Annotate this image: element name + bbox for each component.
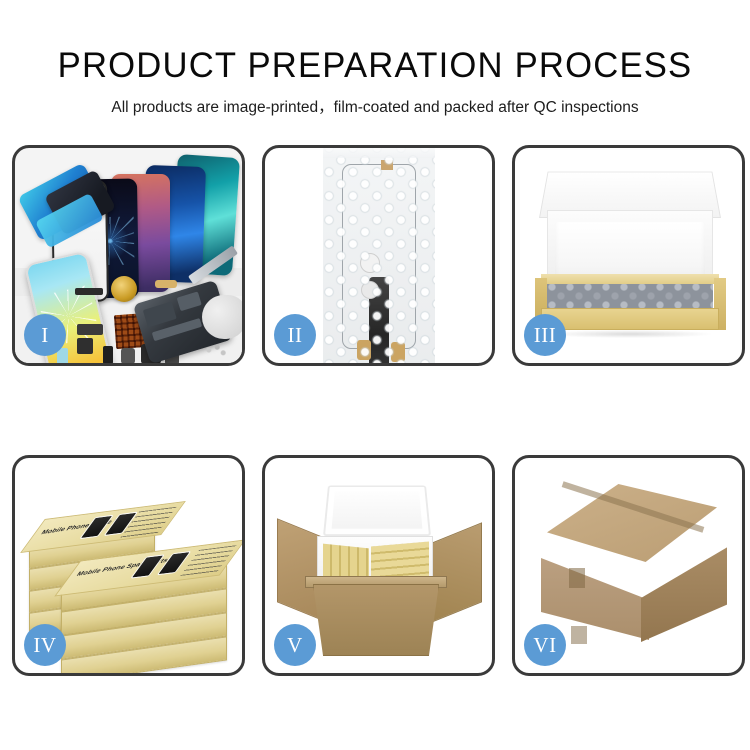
flex-part-d xyxy=(77,324,103,335)
gloved-hand-icon xyxy=(202,295,242,339)
step-card-6[interactable]: VI xyxy=(512,455,745,676)
step-card-1[interactable]: I xyxy=(12,145,245,366)
carton-body xyxy=(313,584,439,656)
speaker-coil-part-icon xyxy=(111,276,137,302)
bubble-texture xyxy=(323,148,435,363)
step-badge-6: VI xyxy=(524,624,566,666)
step-badge-1: I xyxy=(24,314,66,356)
carton-tape-lower xyxy=(571,626,587,644)
step-badge-2: II xyxy=(274,314,316,356)
page-header: PRODUCT PREPARATION PROCESS All products… xyxy=(0,0,750,116)
foam-box-lid xyxy=(323,486,431,536)
carton-tape-upper xyxy=(569,568,585,588)
flex-part-b xyxy=(155,280,177,288)
flex-part-h xyxy=(121,348,135,363)
product-preparation-process-page: PRODUCT PREPARATION PROCESS All products… xyxy=(0,0,750,750)
page-title: PRODUCT PREPARATION PROCESS xyxy=(4,48,747,83)
bubble-wrap-bag-icon xyxy=(323,148,435,363)
step-card-2[interactable]: II xyxy=(262,145,495,366)
flex-part-a xyxy=(75,288,103,295)
label-checklist-front xyxy=(180,545,237,577)
flex-part-e xyxy=(77,338,93,354)
step-card-5[interactable]: V xyxy=(262,455,495,676)
box-drop-shadow xyxy=(549,330,711,338)
grey-bubble-wrap-layer xyxy=(547,282,713,310)
bag-top-fold xyxy=(323,148,435,158)
flex-part-g xyxy=(103,346,113,363)
step-card-4[interactable]: Mobile Phone Spare Parts Mobile Phone Sp… xyxy=(12,455,245,676)
process-steps-grid: I II xyxy=(12,145,745,690)
chassis-detail-1 xyxy=(143,301,177,327)
chassis-detail-2 xyxy=(177,291,202,311)
step-badge-5: V xyxy=(274,624,316,666)
box-front-wall xyxy=(541,308,719,330)
box-inner-lip xyxy=(541,274,719,284)
page-subtitle: All products are image-printed，film-coat… xyxy=(0,100,750,116)
step-badge-4: IV xyxy=(24,624,66,666)
step-badge-3: III xyxy=(524,314,566,356)
screws-icon xyxy=(204,343,228,357)
step-card-3[interactable]: III xyxy=(512,145,745,366)
